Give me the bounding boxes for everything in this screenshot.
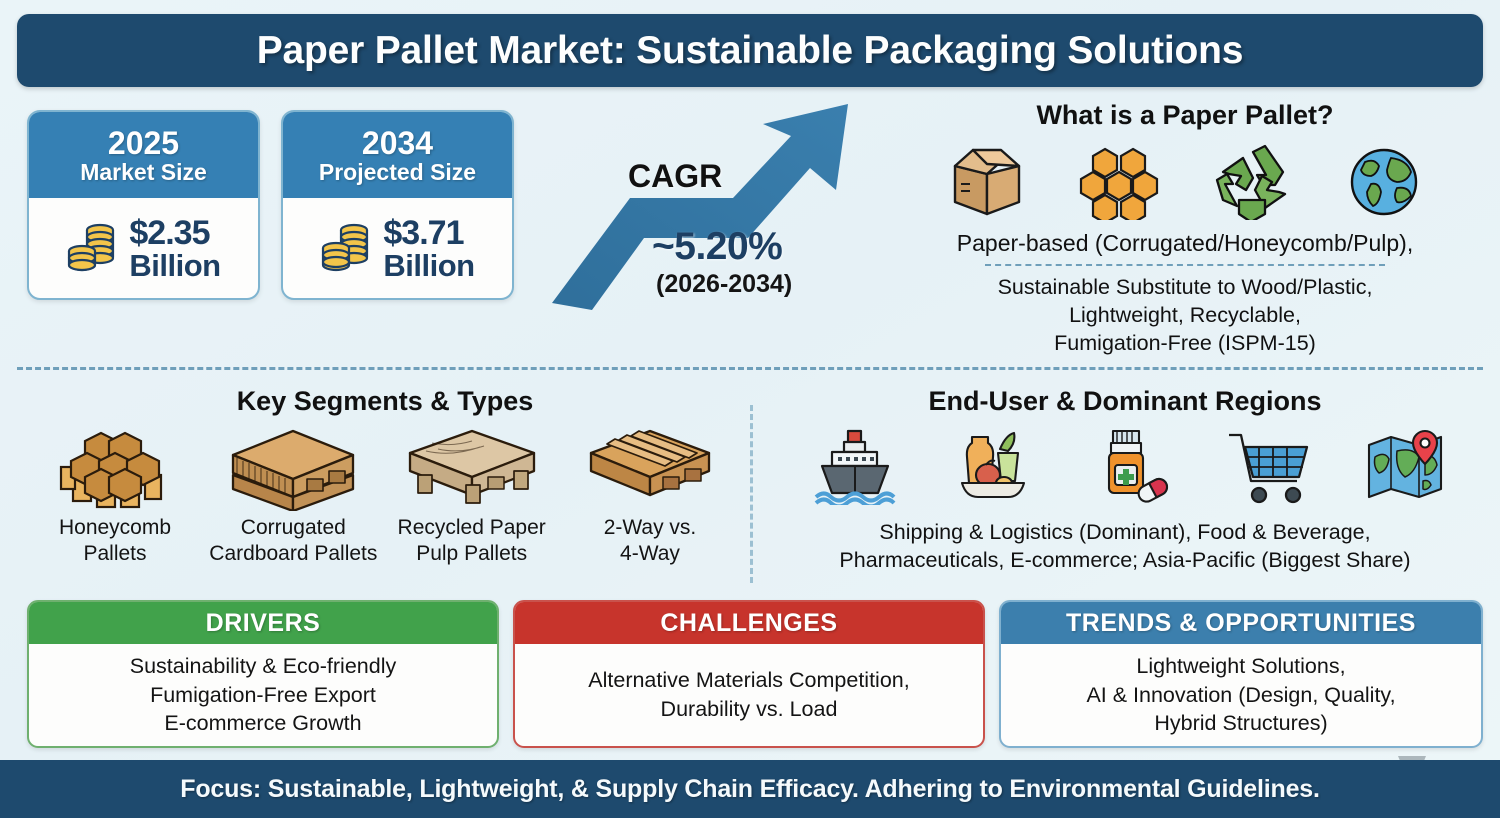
segment-label-line: 2-Way vs. bbox=[565, 515, 735, 541]
segment-item: Recycled Paper Pulp Pallets bbox=[387, 425, 557, 566]
infographic-canvas: Paper Pallet Market: Sustainable Packagi… bbox=[0, 0, 1500, 818]
stat-subtitle: Market Size bbox=[80, 160, 207, 185]
what-is-line2-row: Fumigation-Free (ISPM-15) bbox=[880, 330, 1490, 358]
panel-line: E-commerce Growth bbox=[130, 709, 396, 738]
panel-line: Sustainability & Eco-friendly bbox=[130, 652, 396, 681]
dashed-separator bbox=[985, 264, 1385, 266]
segments-title: Key Segments & Types bbox=[20, 386, 750, 417]
slatted-pallet-icon bbox=[565, 425, 735, 513]
what-is-section: What is a Paper Pallet? bbox=[880, 100, 1490, 358]
panel-drivers: DRIVERS Sustainability & Eco-friendly Fu… bbox=[27, 600, 499, 748]
enduser-line: Pharmaceuticals, E-commerce; Asia-Pacifi… bbox=[772, 546, 1478, 574]
segment-label-line: Pallets bbox=[30, 541, 200, 567]
stat-value-group: $3.71 Billion bbox=[383, 216, 474, 281]
panel-line: Fumigation-Free Export bbox=[130, 681, 396, 710]
segment-item: Corrugated Cardboard Pallets bbox=[208, 425, 378, 566]
segment-label-line: Corrugated bbox=[208, 515, 378, 541]
stat-year: 2025 bbox=[108, 127, 179, 161]
stat-value-group: $2.35 Billion bbox=[129, 216, 220, 281]
ship-icon bbox=[800, 425, 910, 507]
segment-label-line: Cardboard Pallets bbox=[208, 541, 378, 567]
what-is-line1: Paper-based (Corrugated/Honeycomb/Pulp), bbox=[880, 229, 1490, 258]
panel-line: Lightweight Solutions, bbox=[1086, 652, 1395, 681]
panel-line: Hybrid Structures) bbox=[1086, 709, 1395, 738]
stat-unit: Billion bbox=[129, 250, 220, 281]
segment-label-line: Recycled Paper bbox=[387, 515, 557, 541]
what-is-line2: Sustainable Substitute to Wood/Plastic, … bbox=[880, 274, 1490, 358]
corrugated-pallet-icon bbox=[208, 425, 378, 513]
what-is-icon-row bbox=[880, 137, 1490, 225]
what-is-title: What is a Paper Pallet? bbox=[880, 100, 1490, 131]
cagr-block: CAGR ~5.20% (2026-2034) bbox=[548, 98, 878, 313]
page-title: Paper Pallet Market: Sustainable Packagi… bbox=[257, 29, 1244, 73]
stat-card-2025: 2025 Market Size bbox=[27, 110, 260, 300]
coin-stack-icon bbox=[66, 215, 122, 282]
panel-trends: TRENDS & OPPORTUNITIES Lightweight Solut… bbox=[999, 600, 1483, 748]
footer-text: Focus: Sustainable, Lightweight, & Suppl… bbox=[180, 775, 1319, 804]
vertical-divider bbox=[750, 405, 753, 583]
honeycomb-pallet-icon bbox=[30, 425, 200, 513]
panel-line: Durability vs. Load bbox=[588, 695, 909, 724]
what-is-line2-row: Sustainable Substitute to Wood/Plastic, bbox=[880, 274, 1490, 302]
title-bar: Paper Pallet Market: Sustainable Packagi… bbox=[17, 14, 1483, 87]
panel-challenges-body: Alternative Materials Competition, Durab… bbox=[515, 644, 983, 746]
recycle-icon bbox=[1213, 144, 1293, 225]
panel-challenges-heading: CHALLENGES bbox=[515, 602, 983, 644]
enduser-title: End-User & Dominant Regions bbox=[760, 386, 1490, 417]
enduser-icon-row bbox=[800, 425, 1460, 507]
panel-line: Alternative Materials Competition, bbox=[588, 666, 909, 695]
what-is-line2-row: Lightweight, Recyclable, bbox=[880, 302, 1490, 330]
segment-label: 2-Way vs. 4-Way bbox=[565, 515, 735, 566]
panel-drivers-body: Sustainability & Eco-friendly Fumigation… bbox=[29, 644, 497, 746]
segment-label: Corrugated Cardboard Pallets bbox=[208, 515, 378, 566]
stat-card-2034-header: 2034 Projected Size bbox=[283, 112, 512, 198]
panel-line: AI & Innovation (Design, Quality, bbox=[1086, 681, 1395, 710]
stat-amount: $2.35 bbox=[129, 216, 220, 250]
cardboard-box-icon bbox=[947, 144, 1027, 225]
panel-trends-body: Lightweight Solutions, AI & Innovation (… bbox=[1001, 644, 1481, 746]
shopping-cart-icon bbox=[1213, 425, 1323, 507]
segment-item: 2-Way vs. 4-Way bbox=[565, 425, 735, 566]
enduser-line: Shipping & Logistics (Dominant), Food & … bbox=[772, 518, 1478, 546]
segment-label: Honeycomb Pallets bbox=[30, 515, 200, 566]
food-beverage-icon bbox=[938, 425, 1048, 507]
stat-subtitle: Projected Size bbox=[319, 160, 476, 185]
honeycomb-icon bbox=[1079, 144, 1161, 225]
map-pin-icon bbox=[1350, 425, 1460, 507]
stat-card-2034: 2034 Projected Size bbox=[281, 110, 514, 300]
stat-card-2034-body: $3.71 Billion bbox=[283, 198, 512, 298]
panel-drivers-heading: DRIVERS bbox=[29, 602, 497, 644]
coin-stack-icon bbox=[320, 215, 376, 282]
segment-label-line: Pulp Pallets bbox=[387, 541, 557, 567]
cagr-range: (2026-2034) bbox=[656, 270, 792, 299]
stat-unit: Billion bbox=[383, 250, 474, 281]
footer-bar: Focus: Sustainable, Lightweight, & Suppl… bbox=[0, 760, 1500, 818]
horizontal-divider bbox=[17, 367, 1483, 370]
globe-icon bbox=[1345, 144, 1423, 225]
stat-amount: $3.71 bbox=[383, 216, 474, 250]
segment-label: Recycled Paper Pulp Pallets bbox=[387, 515, 557, 566]
pharmaceuticals-icon bbox=[1075, 425, 1185, 507]
cagr-label: CAGR bbox=[628, 158, 722, 195]
stat-card-2025-body: $2.35 Billion bbox=[29, 198, 258, 298]
segment-label-line: 4-Way bbox=[565, 541, 735, 567]
enduser-description: Shipping & Logistics (Dominant), Food & … bbox=[772, 518, 1478, 575]
segment-label-line: Honeycomb bbox=[30, 515, 200, 541]
panel-challenges: CHALLENGES Alternative Materials Competi… bbox=[513, 600, 985, 748]
segment-item: Honeycomb Pallets bbox=[30, 425, 200, 566]
pulp-pallet-icon bbox=[387, 425, 557, 513]
cagr-value: ~5.20% bbox=[652, 225, 782, 269]
stat-card-2025-header: 2025 Market Size bbox=[29, 112, 258, 198]
panel-trends-heading: TRENDS & OPPORTUNITIES bbox=[1001, 602, 1481, 644]
stat-year: 2034 bbox=[362, 127, 433, 161]
segments-row: Honeycomb Pallets bbox=[30, 425, 735, 566]
